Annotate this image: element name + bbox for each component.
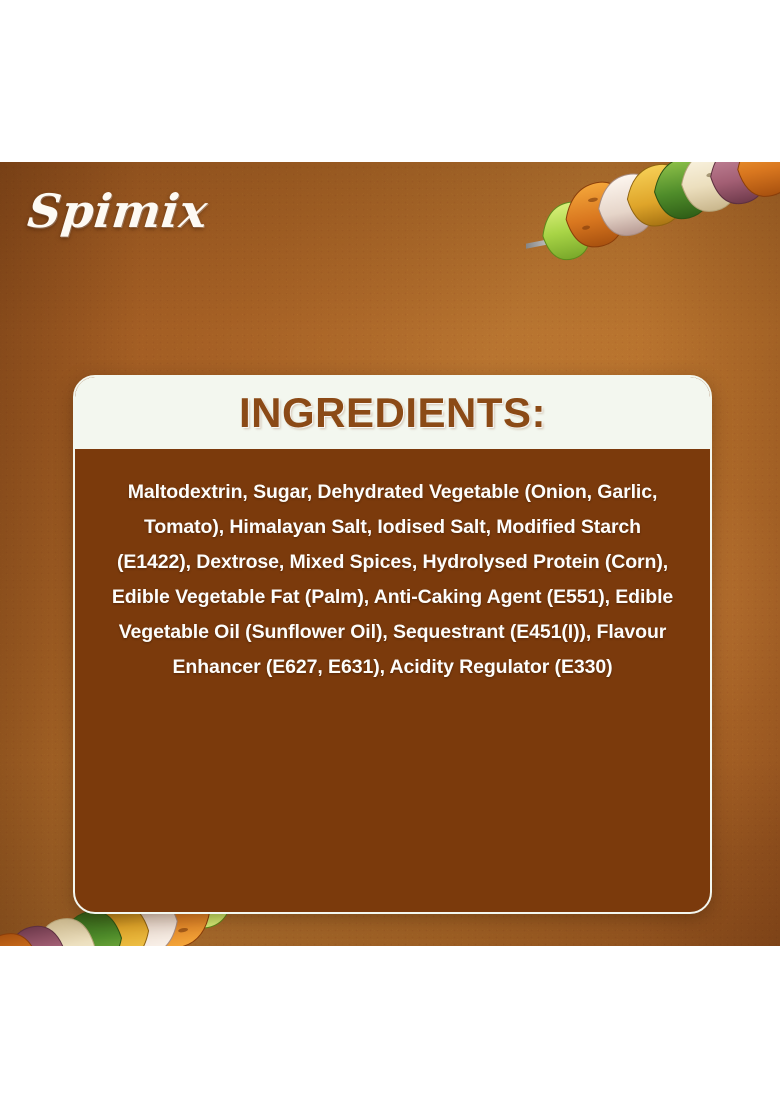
ingredients-list-text: Maltodextrin, Sugar, Dehydrated Vegetabl… [105, 475, 680, 685]
vegetable-skewer-top-right-icon [526, 162, 780, 278]
brand-logo: Spimix [25, 184, 210, 238]
ingredients-card: INGREDIENTS: Maltodextrin, Sugar, Dehydr… [73, 375, 712, 914]
brown-banner-background: Spimix [0, 162, 780, 946]
ingredients-card-header: INGREDIENTS: [75, 377, 710, 449]
ingredients-card-body: Maltodextrin, Sugar, Dehydrated Vegetabl… [75, 449, 710, 715]
poster-canvas: Spimix [0, 0, 780, 1108]
ingredients-heading: INGREDIENTS: [239, 389, 546, 437]
